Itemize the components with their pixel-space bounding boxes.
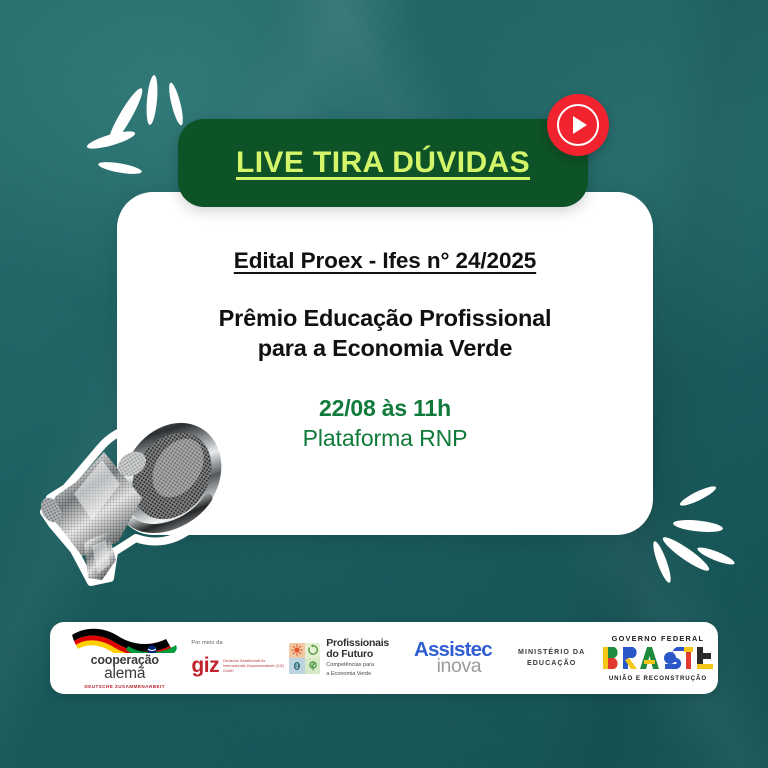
gov-top-label: GOVERNO FEDERAL [612, 634, 705, 643]
pdf-icon-grid [289, 643, 320, 674]
logo-cooperacao-alema: cooperação alemã DEUTSCHE ZUSAMMENARBEIT [58, 622, 191, 694]
logo-assistec-inova: Assistec inova [400, 622, 505, 694]
logo-governo-federal: GOVERNO FEDERAL [598, 622, 718, 694]
giz-wordmark: giz [191, 657, 219, 676]
sparkle-burst-right-svg [646, 474, 766, 592]
logo-ministerio-educacao: MINISTÉRIO DA EDUCAÇÃO [505, 622, 598, 694]
play-circle-icon[interactable] [547, 94, 609, 156]
play-triangle [573, 116, 587, 134]
giz-row: giz Deutsche Gesellschaft für Internatio… [191, 657, 289, 676]
tree-icon [305, 658, 321, 674]
giz-prefix: Por meio da [191, 640, 222, 646]
water-drop-icon [289, 658, 305, 674]
assistec-word2: inova [437, 657, 482, 676]
logo-giz: Por meio da giz Deutsche Gesellschaft fü… [191, 622, 289, 694]
cooperacao-line3: DEUTSCHE ZUSAMMENARBEIT [84, 684, 165, 689]
live-banner: LIVE TIRA DÚVIDAS [178, 119, 588, 207]
gov-bottom-label: UNIÃO E RECONSTRUÇÃO [609, 675, 707, 682]
mec-line1: MINISTÉRIO DA [518, 647, 585, 658]
cooperacao-line2: alemã [104, 666, 145, 682]
award-title-line2: para a Economia Verde [151, 333, 619, 363]
play-ring [557, 104, 599, 146]
recycle-icon [305, 643, 321, 659]
pdf-title-line2: do Futuro [326, 649, 389, 660]
pdf-text: Profissionais do Futuro Competências par… [326, 638, 389, 678]
mec-line2: EDUCAÇÃO [527, 658, 576, 669]
pdf-sub-line2: a Economia Verde [326, 671, 389, 678]
edital-title: Edital Proex - Ifes n° 24/2025 [151, 248, 619, 274]
sun-icon [289, 643, 305, 659]
pdf-sub-line1: Competências para [326, 662, 389, 669]
award-title-line1: Prêmio Educação Profissional [151, 303, 619, 333]
award-title: Prêmio Educação Profissional para a Econ… [151, 303, 619, 363]
poster-canvas: Edital Proex - Ifes n° 24/2025 Prêmio Ed… [0, 0, 768, 768]
germany-brazil-flag-icon [70, 627, 180, 653]
footer-logo-bar: cooperação alemã DEUTSCHE ZUSAMMENARBEIT… [50, 622, 718, 694]
sparkle-burst-right-icon [646, 474, 766, 592]
live-banner-title: LIVE TIRA DÚVIDAS [236, 146, 530, 180]
giz-subtitle: Deutsche Gesellschaft für Internationale… [223, 659, 289, 675]
logo-profissionais-do-futuro: Profissionais do Futuro Competências par… [289, 622, 400, 694]
brasil-wordmark-icon [602, 645, 714, 671]
megaphone-svg [22, 402, 234, 594]
megaphone-icon [22, 402, 234, 594]
